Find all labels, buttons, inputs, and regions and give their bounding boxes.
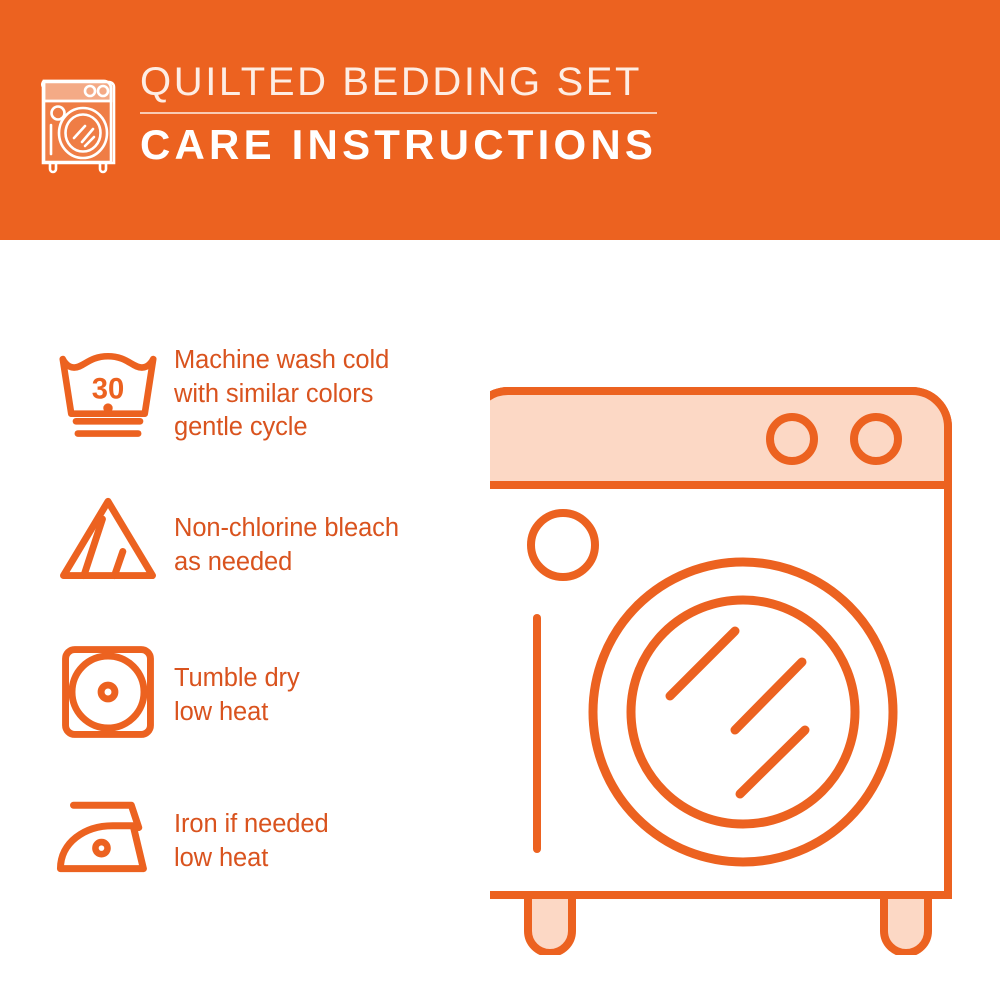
care-line: Machine wash cold [174,344,389,378]
care-line: Iron if needed [174,808,329,842]
wash-tub-30-gentle-icon: 30 [48,340,168,442]
dry-heat-dot [101,685,115,699]
non-chlorine-bleach-triangle-icon [48,490,168,583]
main-content: 30 Machine wash cold with similar colors… [0,240,1000,1000]
care-row-iron: Iron if needed low heat [48,790,478,940]
header-banner: QUILTED BEDDING SET CARE INSTRUCTIONS [0,0,1000,240]
care-text-machine-wash: Machine wash cold with similar colors ge… [168,340,389,445]
iron-low-heat-icon [48,790,168,878]
care-line: with similar colors [174,378,389,412]
page-title-secondary: CARE INSTRUCTIONS [140,122,657,167]
leg-left [528,895,572,953]
washing-machine-icon [40,68,116,176]
care-row-machine-wash: 30 Machine wash cold with similar colors… [48,340,478,490]
page-title-primary: QUILTED BEDDING SET [140,62,657,110]
care-line: as needed [174,546,399,580]
tumble-dry-low-heat-icon [48,640,168,740]
washing-machine-illustration [490,335,990,955]
care-line: Non-chlorine bleach [174,512,399,546]
wash-dot [103,403,112,412]
title-divider [140,112,657,114]
care-row-tumble-dry: Tumble dry low heat [48,640,478,790]
care-line: low heat [174,842,329,876]
leg-right [884,895,928,953]
care-line: low heat [174,696,300,730]
knob-left [770,417,814,461]
care-instruction-list: 30 Machine wash cold with similar colors… [48,340,478,940]
wash-temperature-value: 30 [92,374,124,406]
header-content: QUILTED BEDDING SET CARE INSTRUCTIONS [40,62,657,176]
knob-right [854,417,898,461]
care-line: Tumble dry [174,662,300,696]
iron-heat-dot [95,842,107,854]
care-line: gentle cycle [174,411,389,445]
care-row-bleach: Non-chlorine bleach as needed [48,490,478,640]
care-text-bleach: Non-chlorine bleach as needed [168,490,399,579]
care-text-tumble-dry: Tumble dry low heat [168,640,300,729]
care-text-iron: Iron if needed low heat [168,790,329,875]
title-block: QUILTED BEDDING SET CARE INSTRUCTIONS [140,62,657,167]
